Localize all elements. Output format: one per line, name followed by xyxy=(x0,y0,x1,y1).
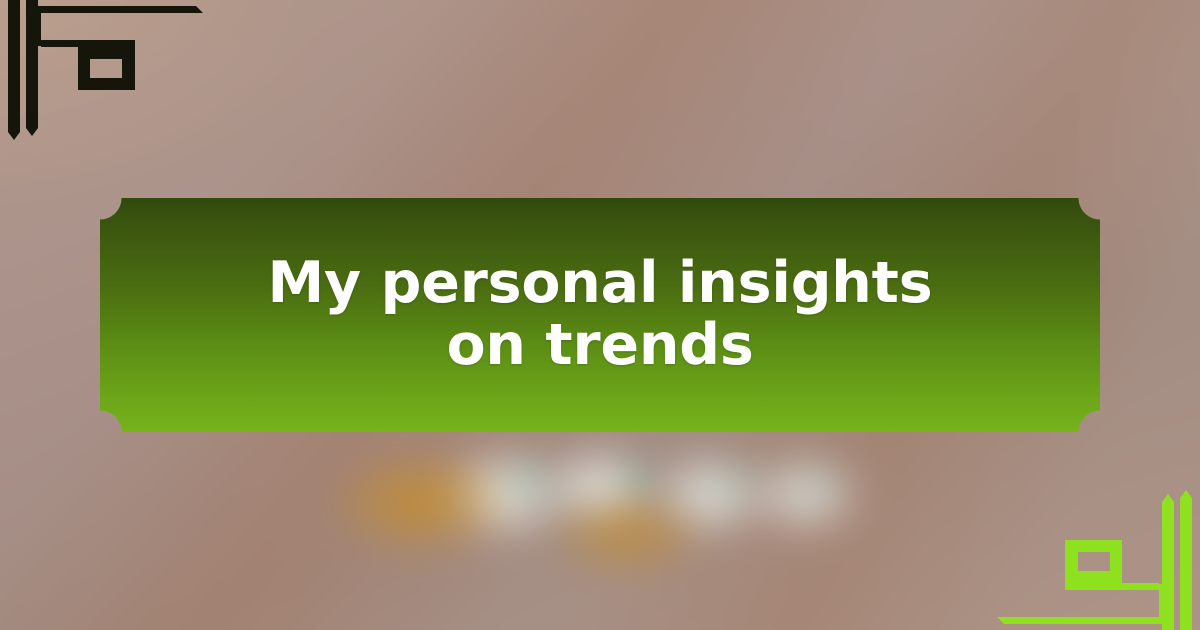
banner-canvas: My personal insights on trends xyxy=(0,0,1200,630)
headline-card: My personal insights on trends xyxy=(100,198,1100,432)
page-title: My personal insights on trends xyxy=(268,253,933,376)
